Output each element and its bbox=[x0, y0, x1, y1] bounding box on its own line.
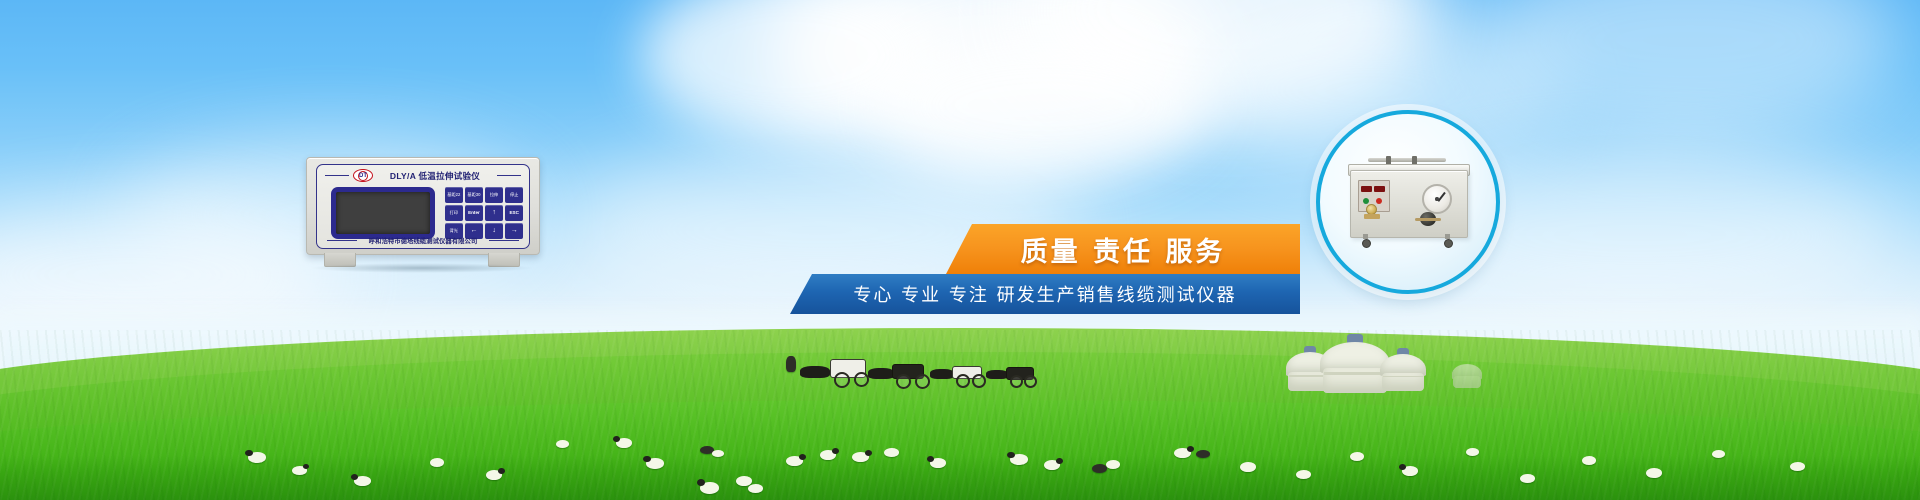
key-label: Enter bbox=[468, 211, 480, 216]
nameplate-badge bbox=[1364, 214, 1380, 219]
sheep bbox=[430, 458, 444, 467]
logo-inner-ring: DT bbox=[358, 171, 368, 181]
product-photo-circle: 低温卷绕试验箱 bbox=[1316, 110, 1500, 294]
sheep bbox=[1010, 454, 1028, 465]
device-brand-row: DT DLY/A 低温拉伸试验仪 bbox=[325, 169, 521, 182]
sheep bbox=[1646, 468, 1662, 478]
banner-stage: DT DLY/A 低温拉伸试验仪 基距22 基距30 拉伸 停止 打印 Ente… bbox=[0, 0, 1920, 500]
device-model-label: DLY/A 低温拉伸试验仪 bbox=[377, 170, 493, 182]
sheep bbox=[1092, 464, 1107, 473]
keypad-key-jiju22[interactable]: 基距22 bbox=[445, 187, 463, 203]
sheep bbox=[1174, 448, 1191, 458]
herder-figure bbox=[786, 356, 796, 372]
keypad-key-esc[interactable]: ESC bbox=[505, 205, 523, 221]
digital-display-icon bbox=[1361, 186, 1372, 192]
ox-cart bbox=[930, 364, 992, 386]
yurt bbox=[1380, 354, 1426, 390]
decorative-rule-right bbox=[497, 175, 521, 176]
company-logo-icon: DT bbox=[353, 169, 373, 182]
tensile-tester-device: DT DLY/A 低温拉伸试验仪 基距22 基距30 拉伸 停止 打印 Ente… bbox=[306, 157, 538, 267]
sheep bbox=[1296, 470, 1311, 479]
sheep bbox=[1196, 450, 1210, 458]
caster-wheel-icon bbox=[1444, 234, 1451, 246]
gauge-hub bbox=[1435, 197, 1439, 201]
key-label: ← bbox=[470, 227, 477, 235]
arrow-up-icon[interactable]: ↑ bbox=[485, 205, 503, 221]
sheep bbox=[1790, 462, 1805, 471]
sheep bbox=[852, 452, 869, 462]
secondary-slogan-text: 专心 专业 专注 研发生产销售线缆测试仪器 bbox=[853, 281, 1236, 307]
key-label: 拉伸 bbox=[490, 193, 498, 198]
device-display-bezel bbox=[331, 187, 435, 239]
sheep bbox=[1582, 456, 1596, 465]
yurt bbox=[1452, 364, 1482, 388]
sheep bbox=[616, 438, 632, 448]
key-label: ↑ bbox=[492, 209, 496, 217]
valve-arm bbox=[1415, 218, 1441, 221]
primary-slogan-banner: 质量 责任 服务 bbox=[946, 224, 1300, 274]
sheep bbox=[486, 470, 502, 480]
winding-test-chamber bbox=[1346, 156, 1470, 248]
key-sublabel: 30 bbox=[476, 193, 481, 198]
red-indicator-icon bbox=[1376, 198, 1382, 204]
sheep bbox=[292, 466, 307, 475]
secondary-slogan-banner: 专心 专业 专注 研发生产销售线缆测试仪器 bbox=[790, 274, 1300, 314]
device-footer-row: 呼和浩特市德塔线缆测试仪器有限公司 bbox=[327, 235, 519, 246]
device-front-panel: DT DLY/A 低温拉伸试验仪 基距22 基距30 拉伸 停止 打印 Ente… bbox=[316, 164, 530, 249]
device-case: DT DLY/A 低温拉伸试验仪 基距22 基距30 拉伸 停止 打印 Ente… bbox=[306, 157, 540, 255]
ox-cart bbox=[868, 362, 934, 386]
sheep bbox=[556, 440, 569, 448]
sheep bbox=[1712, 450, 1725, 458]
sheep bbox=[748, 484, 763, 493]
sheep bbox=[1402, 466, 1418, 476]
device-company-label: 呼和浩特市德塔线缆测试仪器有限公司 bbox=[361, 236, 485, 245]
logo-letters: DT bbox=[359, 173, 367, 179]
key-label: 基距 bbox=[467, 193, 475, 198]
sheep bbox=[354, 476, 371, 486]
valve-knob-icon bbox=[1420, 212, 1436, 226]
device-keypad[interactable]: 基距22 基距30 拉伸 停止 打印 Enter ↑ ESC 背光 ← ↓ → bbox=[445, 187, 523, 239]
key-sublabel: 22 bbox=[456, 193, 461, 198]
sheep bbox=[884, 448, 899, 457]
primary-slogan-text: 质量 责任 服务 bbox=[1021, 230, 1226, 269]
key-label: 基距 bbox=[447, 193, 455, 198]
keypad-key-stop[interactable]: 停止 bbox=[505, 187, 523, 203]
sheep bbox=[700, 482, 719, 494]
sheep bbox=[1466, 448, 1479, 456]
sheep bbox=[1106, 460, 1120, 469]
digital-display-icon bbox=[1374, 186, 1385, 192]
green-indicator-icon bbox=[1363, 198, 1369, 204]
sheep bbox=[712, 450, 724, 457]
key-label: 背光 bbox=[450, 229, 458, 234]
key-label: 停止 bbox=[510, 193, 518, 198]
keypad-key-enter[interactable]: Enter bbox=[465, 205, 483, 221]
device-drop-shadow bbox=[310, 263, 534, 273]
lid-handle-bar bbox=[1368, 158, 1446, 162]
decorative-rule-left bbox=[325, 175, 349, 176]
lcd-screen bbox=[336, 192, 430, 234]
caster-wheel-icon bbox=[1362, 234, 1369, 246]
sheep bbox=[248, 452, 266, 463]
keypad-key-jiju30[interactable]: 基距30 bbox=[465, 187, 483, 203]
ox-cart bbox=[800, 358, 872, 384]
sheep bbox=[1044, 460, 1060, 470]
key-label: → bbox=[511, 227, 518, 235]
key-label: ↓ bbox=[492, 227, 496, 235]
sheep bbox=[1350, 452, 1364, 461]
key-label: 打印 bbox=[450, 211, 458, 216]
decorative-rule-right bbox=[489, 240, 519, 241]
key-label: ESC bbox=[509, 211, 518, 216]
sheep bbox=[820, 450, 836, 460]
grass-foreground-shadow bbox=[0, 455, 1920, 500]
keypad-key-stretch[interactable]: 拉伸 bbox=[485, 187, 503, 203]
sheep bbox=[646, 458, 664, 469]
sheep bbox=[786, 456, 803, 466]
sheep bbox=[1240, 462, 1256, 472]
sheep bbox=[1520, 474, 1535, 483]
pressure-gauge-icon bbox=[1422, 184, 1452, 214]
sheep bbox=[930, 458, 946, 468]
keypad-key-print[interactable]: 打印 bbox=[445, 205, 463, 221]
ox-cart bbox=[986, 366, 1044, 386]
decorative-rule-left bbox=[327, 240, 357, 241]
